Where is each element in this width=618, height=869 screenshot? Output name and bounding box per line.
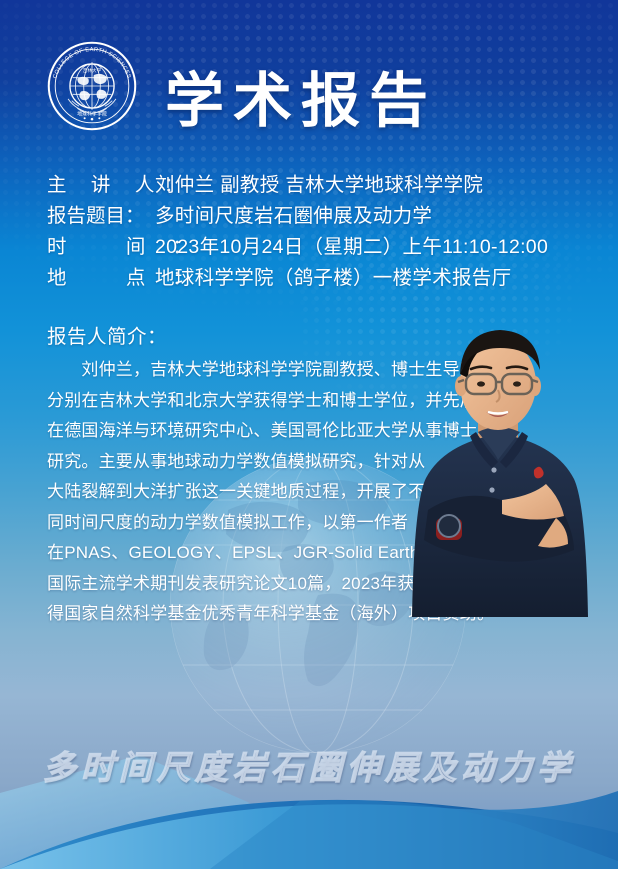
bio-line: 在PNAS、GEOLOGY、EPSL、JGR-Solid Earth — [47, 538, 447, 569]
bio-line: 分别在吉林大学和北京大学获得学士和博士学位，并先后 — [47, 386, 447, 417]
bottom-banner: 多时间尺度岩石圈伸展及动力学 — [0, 735, 618, 795]
poster-root: COLLEGE OF EARTH SCIENCES 地球科学学院 吉林大学 学术… — [0, 0, 618, 869]
bio-line: 国际主流学术期刊发表研究论文10篇，2023年获 — [47, 569, 447, 600]
event-info-block: 主 讲 人： 刘仲兰 副教授 吉林大学地球科学学院 报告题目： 多时间尺度岩石圈… — [47, 170, 592, 294]
bio-line: 得国家自然科学基金优秀青年科学基金（海外）项目资助。 — [47, 599, 447, 630]
info-value-topic: 多时间尺度岩石圈伸展及动力学 — [155, 201, 432, 232]
bottom-banner-title: 多时间尺度岩石圈伸展及动力学 — [43, 741, 575, 789]
info-row-time: 时 间： 2023年10月24日（星期二）上午11:10-12:00 — [47, 232, 592, 263]
info-label-time: 时 间： — [47, 232, 155, 263]
info-value-venue: 地球科学学院（鸽子楼）一楼学术报告厅 — [155, 263, 511, 294]
bio-body: 刘仲兰，吉林大学地球科学学院副教授、博士生导师。 分别在吉林大学和北京大学获得学… — [47, 355, 447, 630]
college-logo-icon: COLLEGE OF EARTH SCIENCES 地球科学学院 吉林大学 — [46, 40, 138, 132]
svg-text:地球科学学院: 地球科学学院 — [77, 110, 107, 117]
info-label-topic: 报告题目： — [47, 201, 155, 232]
info-label-venue: 地 点： — [47, 263, 155, 294]
bio-line: 同时间尺度的动力学数值模拟工作，以第一作者 — [47, 508, 447, 539]
page-title: 学术报告 — [165, 71, 437, 131]
bio-heading: 报告人简介： — [47, 320, 167, 349]
bio-line: 刘仲兰，吉林大学地球科学学院副教授、博士生导师。 — [47, 355, 447, 386]
info-row-venue: 地 点： 地球科学学院（鸽子楼）一楼学术报告厅 — [47, 263, 592, 294]
info-row-topic: 报告题目： 多时间尺度岩石圈伸展及动力学 — [47, 201, 592, 232]
bio-line: 研究。主要从事地球动力学数值模拟研究，针对从 — [47, 447, 447, 478]
info-row-speaker: 主 讲 人： 刘仲兰 副教授 吉林大学地球科学学院 — [47, 170, 592, 201]
bio-line: 在德国海洋与环境研究中心、美国哥伦比亚大学从事博士后 — [47, 416, 447, 447]
bio-line: 大陆裂解到大洋扩张这一关键地质过程，开展了不 — [47, 477, 447, 508]
info-label-speaker: 主 讲 人： — [47, 170, 155, 201]
info-value-speaker: 刘仲兰 副教授 吉林大学地球科学学院 — [155, 170, 483, 201]
info-value-time: 2023年10月24日（星期二）上午11:10-12:00 — [155, 232, 548, 263]
